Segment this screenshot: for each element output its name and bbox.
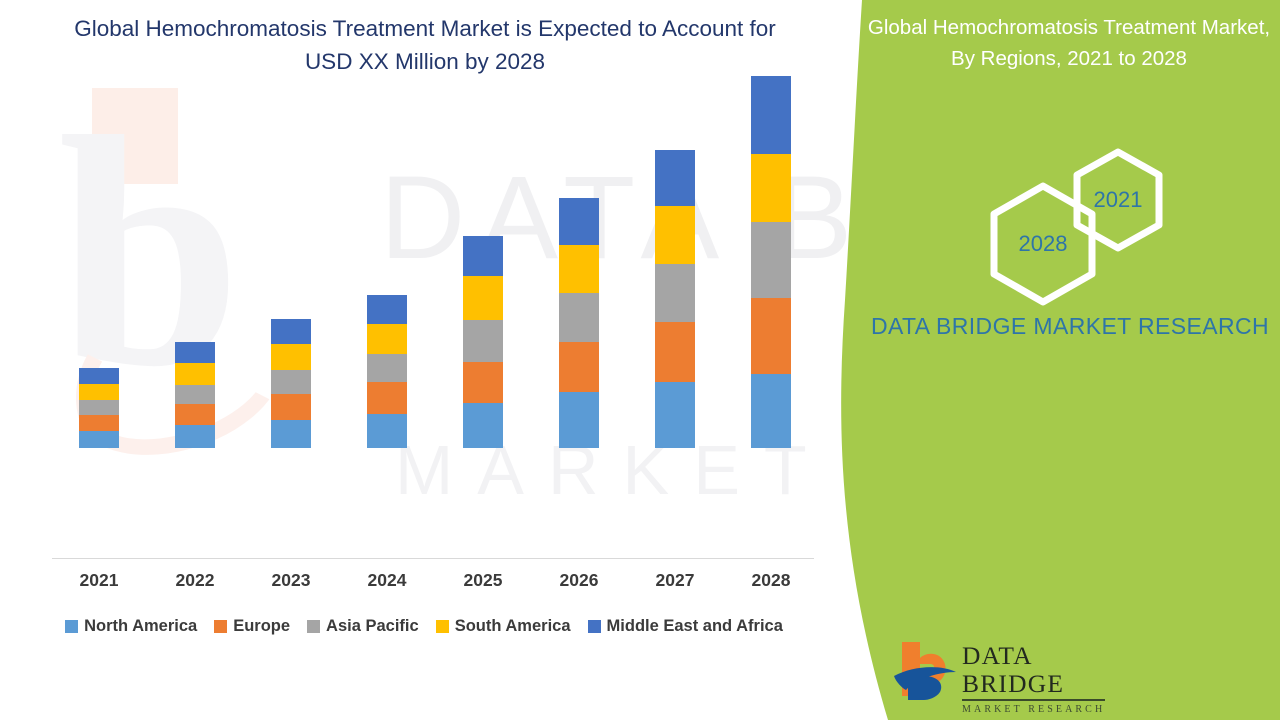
- bar-segment: [175, 385, 215, 404]
- bar-segment: [655, 322, 695, 382]
- legend-item[interactable]: Middle East and Africa: [588, 617, 783, 636]
- bar-segment: [271, 344, 311, 370]
- bar-segment: [463, 403, 503, 448]
- bar-segment: [559, 392, 599, 448]
- brand-name: DATA BRIDGE MARKET RESEARCH: [860, 310, 1280, 342]
- bar-segment: [271, 370, 311, 394]
- bar-segment: [175, 363, 215, 385]
- company-logo: DATA BRIDGE MARKET RESEARCH: [890, 636, 1105, 704]
- bar-segment: [751, 374, 791, 448]
- bar-segment: [559, 198, 599, 245]
- hexagon-start-year-label: 2021: [1094, 187, 1143, 213]
- bar-segment: [271, 420, 311, 448]
- data-bridge-logo-icon: [890, 636, 958, 702]
- legend-swatch-icon: [436, 620, 449, 633]
- legend-item[interactable]: South America: [436, 617, 571, 636]
- stacked-bar: [175, 342, 215, 448]
- bar-segment: [271, 319, 311, 344]
- legend-label: South America: [455, 617, 571, 636]
- legend-swatch-icon: [214, 620, 227, 633]
- logo-sub-text: MARKET RESEARCH: [962, 704, 1107, 715]
- chart-legend: North AmericaEuropeAsia PacificSouth Ame…: [0, 617, 848, 636]
- legend-label: North America: [84, 617, 197, 636]
- bar-segment: [367, 354, 407, 382]
- hexagon-end-year-label: 2028: [1019, 231, 1068, 257]
- bar-segment: [367, 414, 407, 448]
- chart-plot-area: 20212022202320242025202620272028: [0, 0, 848, 610]
- x-axis-tick-label: 2025: [435, 570, 531, 591]
- legend-item[interactable]: Asia Pacific: [307, 617, 419, 636]
- bar-segment: [79, 400, 119, 415]
- infographic-page: b DATA BRIDGE MARKET RESEARCH Global Hem…: [0, 0, 1280, 720]
- bar-segment: [175, 404, 215, 425]
- legend-swatch-icon: [588, 620, 601, 633]
- logo-wordmark: DATA BRIDGE MARKET RESEARCH: [962, 642, 1107, 715]
- legend-label: Asia Pacific: [326, 617, 419, 636]
- bar-segment: [751, 222, 791, 298]
- x-axis-tick-label: 2027: [627, 570, 723, 591]
- legend-swatch-icon: [307, 620, 320, 633]
- logo-divider: [962, 699, 1105, 701]
- bar-segment: [79, 368, 119, 384]
- x-axis-tick-label: 2028: [723, 570, 819, 591]
- bar-segment: [751, 298, 791, 374]
- bar-segment: [79, 415, 119, 431]
- bar-segment: [175, 425, 215, 448]
- panel-title: Global Hemochromatosis Treatment Market,…: [864, 12, 1274, 74]
- bar-segment: [367, 295, 407, 324]
- bar-segment: [751, 154, 791, 222]
- bar-segment: [367, 324, 407, 354]
- stacked-bar: [559, 198, 599, 448]
- x-axis-tick-label: 2026: [531, 570, 627, 591]
- bar-segment: [559, 342, 599, 392]
- legend-item[interactable]: North America: [65, 617, 197, 636]
- x-axis-tick-label: 2022: [147, 570, 243, 591]
- bar-segment: [463, 320, 503, 362]
- bar-segment: [175, 342, 215, 363]
- green-panel-content: Global Hemochromatosis Treatment Market,…: [860, 0, 1280, 720]
- stacked-bar: [655, 150, 695, 448]
- stacked-bar: [463, 236, 503, 448]
- x-axis-labels: 20212022202320242025202620272028: [0, 570, 848, 600]
- bar-segment: [559, 293, 599, 342]
- bar-segment: [463, 362, 503, 403]
- legend-label: Europe: [233, 617, 290, 636]
- x-axis-tick-label: 2021: [51, 570, 147, 591]
- bar-segment: [655, 206, 695, 264]
- x-axis-tick-label: 2024: [339, 570, 435, 591]
- bar-segment: [655, 150, 695, 206]
- bar-segment: [559, 245, 599, 293]
- logo-main-text: DATA BRIDGE: [962, 642, 1107, 698]
- bar-segment: [271, 394, 311, 420]
- bar-segment: [367, 382, 407, 414]
- bar-segment: [655, 264, 695, 322]
- x-axis-line: [52, 558, 814, 559]
- stacked-bar: [271, 319, 311, 448]
- bar-segment: [79, 431, 119, 448]
- bar-segment: [655, 382, 695, 448]
- hexagon-start-year: 2021: [1072, 148, 1164, 252]
- stacked-bar: [367, 295, 407, 448]
- x-axis-tick-label: 2023: [243, 570, 339, 591]
- legend-item[interactable]: Europe: [214, 617, 290, 636]
- stacked-bar: [79, 368, 119, 448]
- bar-segment: [463, 276, 503, 320]
- stacked-bar: [751, 76, 791, 448]
- bar-segment: [751, 76, 791, 154]
- legend-swatch-icon: [65, 620, 78, 633]
- bar-segment: [79, 384, 119, 400]
- legend-label: Middle East and Africa: [607, 617, 783, 636]
- bar-segment: [463, 236, 503, 276]
